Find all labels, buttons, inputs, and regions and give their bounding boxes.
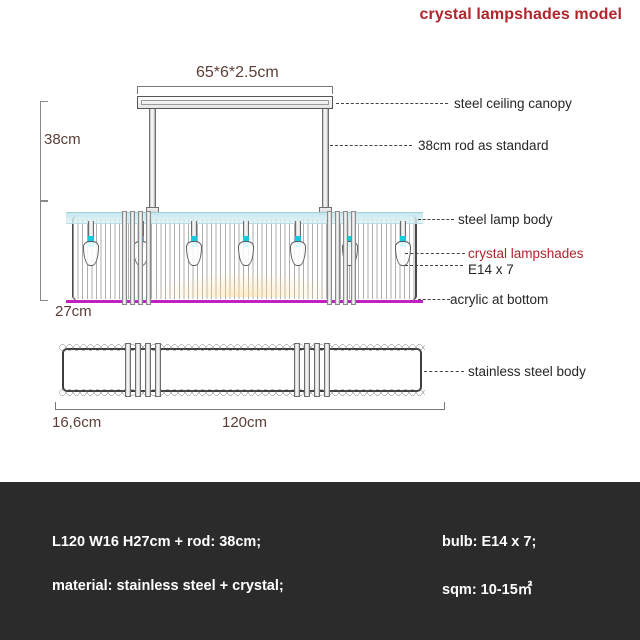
top-view-scallop-top [59, 344, 425, 351]
dim-label-canopy: 65*6*2.5cm [196, 64, 279, 82]
callout-line-bulb [405, 265, 463, 266]
callout-line-stainless [424, 371, 464, 372]
dim-bracket-canopy [137, 86, 333, 94]
suspension-rod-left [149, 109, 156, 211]
top-view-post [304, 343, 310, 397]
top-view-post [135, 343, 141, 397]
callout-line-acrylic [418, 299, 450, 300]
top-view-post [145, 343, 151, 397]
steel-lamp-body [72, 215, 417, 301]
callout-label-lampshades: crystal lampshades [468, 246, 584, 261]
mount-post [335, 211, 340, 305]
mount-post [122, 211, 127, 305]
spec-footer: L120 W16 H27cm + rod: 38cm; bulb: E14 x … [0, 482, 640, 640]
dim-bracket-rod-height [40, 101, 48, 201]
mount-post [343, 211, 348, 305]
steel-ceiling-canopy [137, 96, 333, 109]
top-view-post [155, 343, 161, 397]
dim-label-width: 16,6cm [52, 414, 101, 431]
callout-line-lamp-body [418, 219, 454, 220]
callout-line-canopy [336, 103, 448, 104]
top-view-post [294, 343, 300, 397]
callout-label-stainless: stainless steel body [468, 364, 586, 379]
callout-label-bulb: E14 x 7 [468, 262, 514, 277]
dim-bracket-length [55, 402, 445, 410]
dim-bracket-body-height [40, 201, 48, 301]
callout-label-rod: 38cm rod as standard [418, 138, 549, 153]
dim-label-length: 120cm [222, 414, 267, 431]
callout-line-rod [330, 145, 412, 146]
mount-post [351, 211, 356, 305]
suspension-rod-right [322, 109, 329, 211]
dim-label-rod-height: 38cm [44, 131, 81, 148]
callout-label-acrylic: acrylic at bottom [450, 292, 548, 307]
top-view-post [125, 343, 131, 397]
top-view-cluster-right [294, 343, 330, 397]
callout-label-lamp-body: steel lamp body [458, 212, 553, 227]
mount-post [138, 211, 143, 305]
spec-sqm-unit: ㎡ [518, 582, 533, 598]
spec-material: material: stainless steel + crystal; [52, 578, 442, 599]
top-view-body [62, 348, 422, 392]
mount-post [327, 211, 332, 305]
top-view-post [324, 343, 330, 397]
acrylic-bottom-panel [66, 300, 423, 303]
spec-sqm: sqm: 10-15㎡ [442, 578, 612, 599]
callout-label-canopy: steel ceiling canopy [454, 96, 572, 111]
top-view-frame [62, 348, 422, 392]
mount-post [146, 211, 151, 305]
spec-size: L120 W16 H27cm + rod: 38cm; [52, 534, 442, 550]
spec-sqm-label: sqm: 10-15 [442, 582, 518, 598]
top-view-scallop-bottom [59, 389, 425, 396]
product-diagram-page: crystal lampshades model 38cm 27cm 65*6*… [0, 0, 640, 640]
spec-row-2: material: stainless steel + crystal; sqm… [52, 578, 612, 599]
page-title: crystal lampshades model [420, 6, 623, 24]
lamp-glow [148, 271, 341, 297]
top-view-cluster-left [125, 343, 161, 397]
mount-cluster-right [327, 211, 356, 305]
spec-row-1: L120 W16 H27cm + rod: 38cm; bulb: E14 x … [52, 534, 612, 550]
mount-post [130, 211, 135, 305]
top-view-post [314, 343, 320, 397]
mount-cluster-left [122, 211, 151, 305]
dim-label-body-height: 27cm [55, 303, 92, 320]
spec-bulb: bulb: E14 x 7; [442, 534, 612, 550]
callout-line-lampshades [405, 253, 465, 254]
